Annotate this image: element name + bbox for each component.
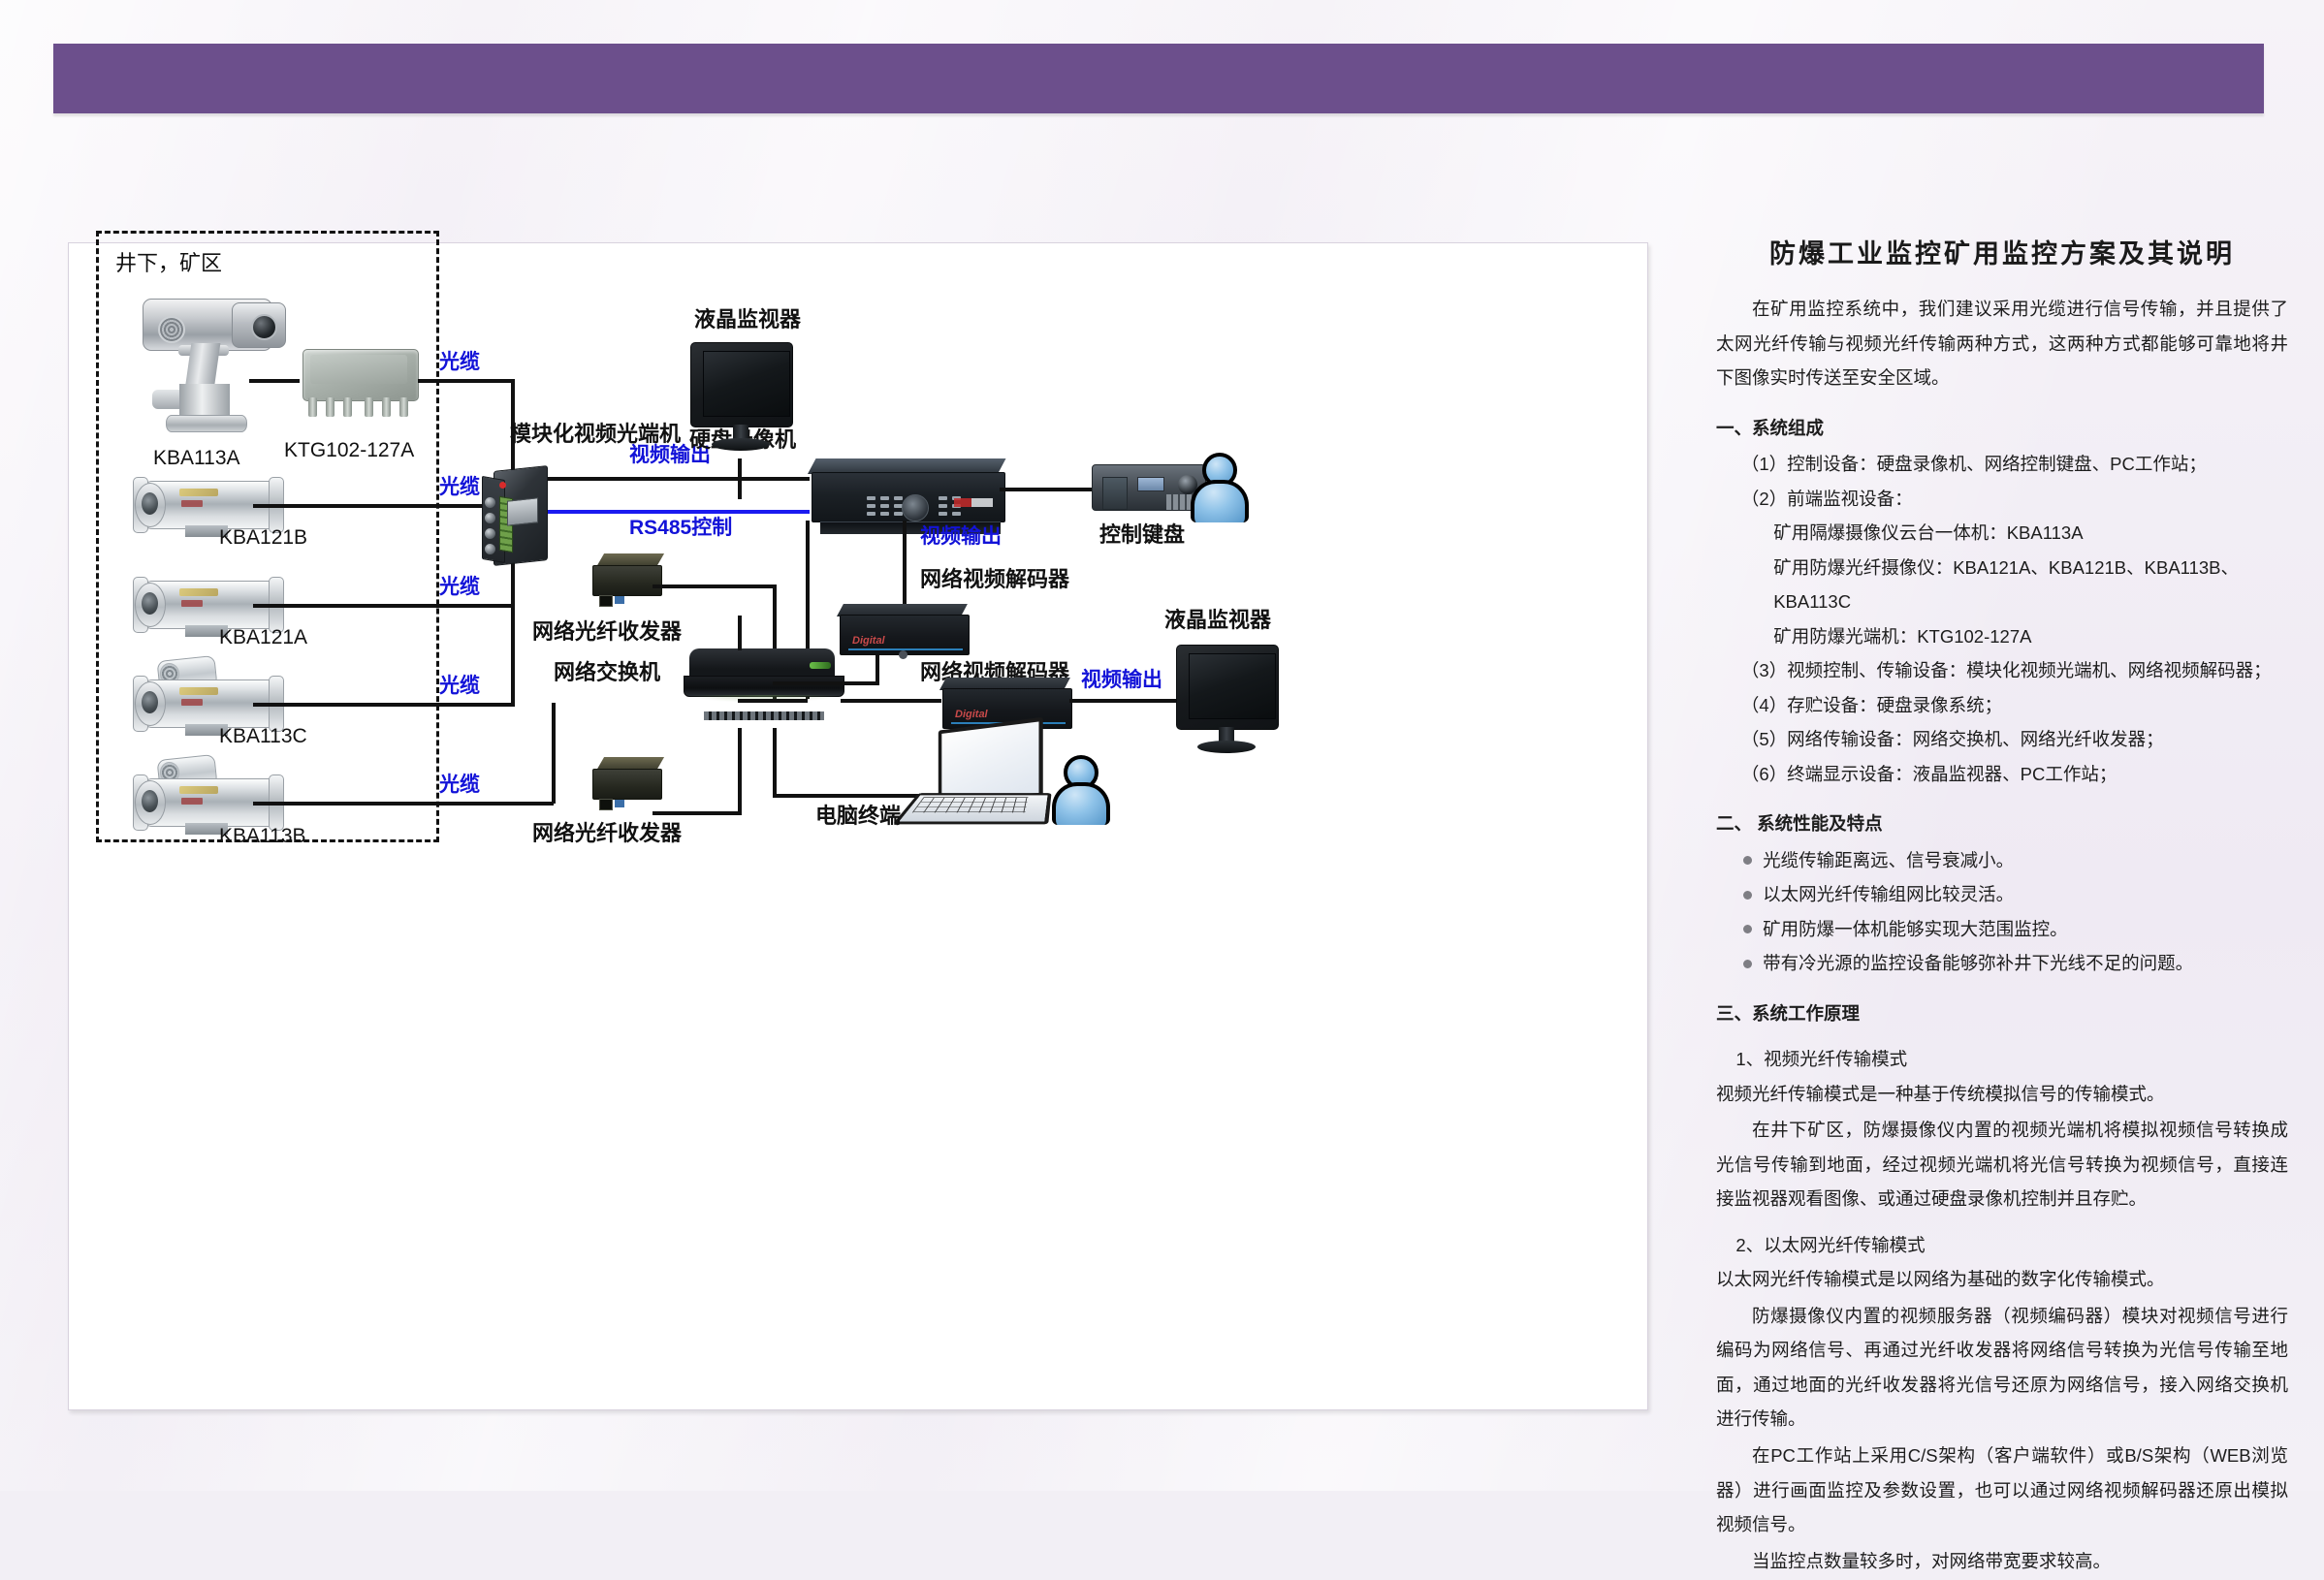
mode-1-paragraph-1: 视频光纤传输模式是一种基于传统模拟信号的传输模式。 — [1716, 1077, 2288, 1112]
explanation-column: 防爆工业监控矿用监控方案及其说明 在矿用监控系统中，我们建议采用光缆进行信号传输… — [1716, 233, 2288, 1580]
optical-transceiver-image — [480, 464, 556, 569]
link-fiber-bus-joint — [511, 703, 515, 707]
link-label-fiber-4: 光缆 — [439, 676, 480, 696]
label-lcd-monitor-right: 液晶监视器 — [1164, 610, 1271, 631]
mode-2-paragraph-1: 以太网光纤传输模式是以网络为基础的数字化传输模式。 — [1716, 1262, 2288, 1297]
label-decoder-top: 网络视频解码器 — [920, 569, 1069, 590]
mode-2-heading: 2、以太网光纤传输模式 — [1716, 1228, 2288, 1263]
label-kba113c: KBA113C — [219, 726, 307, 746]
section-1-subitem-1: 矿用隔爆摄像仪云台一体机：KBA113A — [1716, 516, 2288, 551]
link-dvr-to-monitor — [738, 458, 742, 499]
section-1-item-2: （2）前端监视设备： — [1716, 482, 2288, 517]
dvr-image — [808, 458, 1009, 530]
section-2-bullet-4: 带有冷光源的监控设备能够弥补井下光线不足的问题。 — [1716, 946, 2288, 981]
mine-zone-label: 井下，矿区 — [115, 253, 222, 274]
link-video-out-1 — [548, 477, 810, 481]
document-title: 防爆工业监控矿用监控方案及其说明 — [1716, 233, 2288, 270]
link-switch-right-upper — [773, 681, 879, 685]
link-switch-top-bus — [738, 699, 808, 703]
lcd-monitor-right-image — [1172, 645, 1281, 759]
section-1-subitem-3: 矿用防爆光端机：KTG102-127A — [1716, 619, 2288, 654]
link-decoder-to-monitor — [1069, 699, 1180, 703]
operator-avatar-2 — [1050, 755, 1104, 821]
section-1-item-4: （4）存贮设备：硬盘录像系统； — [1716, 688, 2288, 723]
section-1-heading: 一、系统组成 — [1716, 411, 2288, 446]
section-1-item-6: （6）终端显示设备：液晶监视器、PC工作站； — [1716, 757, 2288, 792]
mode-1-heading: 1、视频光纤传输模式 — [1716, 1042, 2288, 1077]
link-mcv2-to-switch — [653, 811, 742, 815]
link-label-fiber-5: 光缆 — [439, 774, 480, 795]
link-switch-uplink-1 — [738, 616, 742, 650]
label-ktg102-127a: KTG102-127A — [284, 440, 414, 460]
section-2-bullet-2: 以太网光纤传输组网比较灵活。 — [1716, 877, 2288, 912]
section-2-heading: 二、 系统性能及特点 — [1716, 806, 2288, 841]
label-control-keyboard: 控制键盘 — [1099, 524, 1185, 546]
link-switch-down-left — [738, 728, 742, 811]
diagram-panel: 井下，矿区 KBA113A KTG102-127A 光缆 — [68, 242, 1648, 1410]
link-kba121b-fiber — [253, 504, 511, 508]
section-1-subitem-2: 矿用防爆光纤摄像仪：KBA121A、KBA121B、KBA113B、KBA113… — [1716, 551, 2288, 619]
media-converter-2-image — [590, 757, 666, 807]
mode-1-paragraph-2: 在井下矿区，防爆摄像仪内置的视频光端机将模拟视频信号转换成光信号传输到地面，经过… — [1716, 1113, 2288, 1217]
link-kba113c-fiber — [253, 703, 511, 707]
link-dvr-to-decoder-top — [903, 521, 907, 616]
label-kba121a: KBA121A — [219, 627, 307, 648]
top-banner — [53, 44, 2264, 113]
section-1-item-5: （5）网络传输设备：网络交换机、网络光纤收发器； — [1716, 722, 2288, 757]
link-dvr-to-keyboard — [1000, 488, 1093, 491]
label-kba121b: KBA121B — [219, 527, 307, 548]
link-kba113b-fiber — [253, 802, 554, 806]
decoder-top-image: Digital — [837, 604, 972, 660]
link-label-fiber-2: 光缆 — [439, 477, 480, 497]
label-network-switch: 网络交换机 — [554, 662, 660, 683]
link-fiber-bus-mid — [511, 604, 515, 707]
link-label-fiber-3: 光缆 — [439, 577, 480, 597]
label-pc-terminal: 电脑终端 — [815, 806, 901, 827]
link-rs485 — [548, 510, 810, 514]
section-1-item-3: （3）视频控制、传输设备：模块化视频光端机、网络视频解码器； — [1716, 653, 2288, 688]
link-ptz-to-jbox — [249, 379, 300, 383]
ptz-camera-image — [135, 287, 300, 437]
section-2-bullet-3: 矿用防爆一体机能够实现大范围监控。 — [1716, 912, 2288, 947]
link-label-video-out-2: 视频输出 — [920, 526, 1002, 547]
mode-2-paragraph-2: 防爆摄像仪内置的视频服务器（视频编码器）模块对视频信号进行编码为网络信号、再通过… — [1716, 1299, 2288, 1437]
section-1-item-1: （1）控制设备：硬盘录像机、网络控制键盘、PC工作站； — [1716, 447, 2288, 482]
network-topology-diagram: 井下，矿区 KBA113A KTG102-127A 光缆 — [69, 243, 1647, 1409]
operator-avatar-1 — [1189, 453, 1243, 519]
pc-terminal-image — [905, 724, 1050, 831]
intro-paragraph: 在矿用监控系统中，我们建议采用光缆进行信号传输，并且提供了太网光纤传输与视频光纤… — [1716, 292, 2288, 395]
label-media-converter-2: 网络光纤收发器 — [532, 823, 682, 844]
link-mcv1-to-switch — [653, 585, 777, 588]
label-kba113a: KBA113A — [153, 448, 240, 468]
section-3-heading: 三、系统工作原理 — [1716, 996, 2288, 1031]
label-optical-transceiver: 模块化视频光端机 — [510, 424, 681, 445]
mode-2-paragraph-3: 在PC工作站上采用C/S架构（客户端软件）或B/S架构（WEB浏览器）进行画面监… — [1716, 1438, 2288, 1542]
media-converter-1-image — [590, 553, 666, 604]
label-lcd-monitor-top: 液晶监视器 — [694, 309, 801, 331]
section-2-bullet-1: 光缆传输距离远、信号衰减小。 — [1716, 843, 2288, 878]
link-label-video-out-3: 视频输出 — [1081, 670, 1162, 690]
link-switch-to-decoder-bottom — [841, 699, 941, 703]
link-fiber-bus-lower — [552, 703, 556, 804]
link-label-rs485: RS485控制 — [629, 518, 732, 538]
mode-2-paragraph-4: 当监控点数量较多时，对网络带宽要求较高。 — [1716, 1544, 2288, 1579]
label-media-converter-1: 网络光纤收发器 — [532, 621, 682, 643]
link-kba121a-fiber — [253, 604, 511, 608]
link-label-fiber-1: 光缆 — [439, 352, 480, 372]
junction-box-image — [297, 345, 425, 421]
label-kba113b: KBA113B — [219, 826, 306, 846]
lcd-monitor-top-image — [686, 342, 795, 457]
link-switch-down-right — [773, 728, 777, 794]
link-jbox-fiber — [418, 379, 515, 383]
